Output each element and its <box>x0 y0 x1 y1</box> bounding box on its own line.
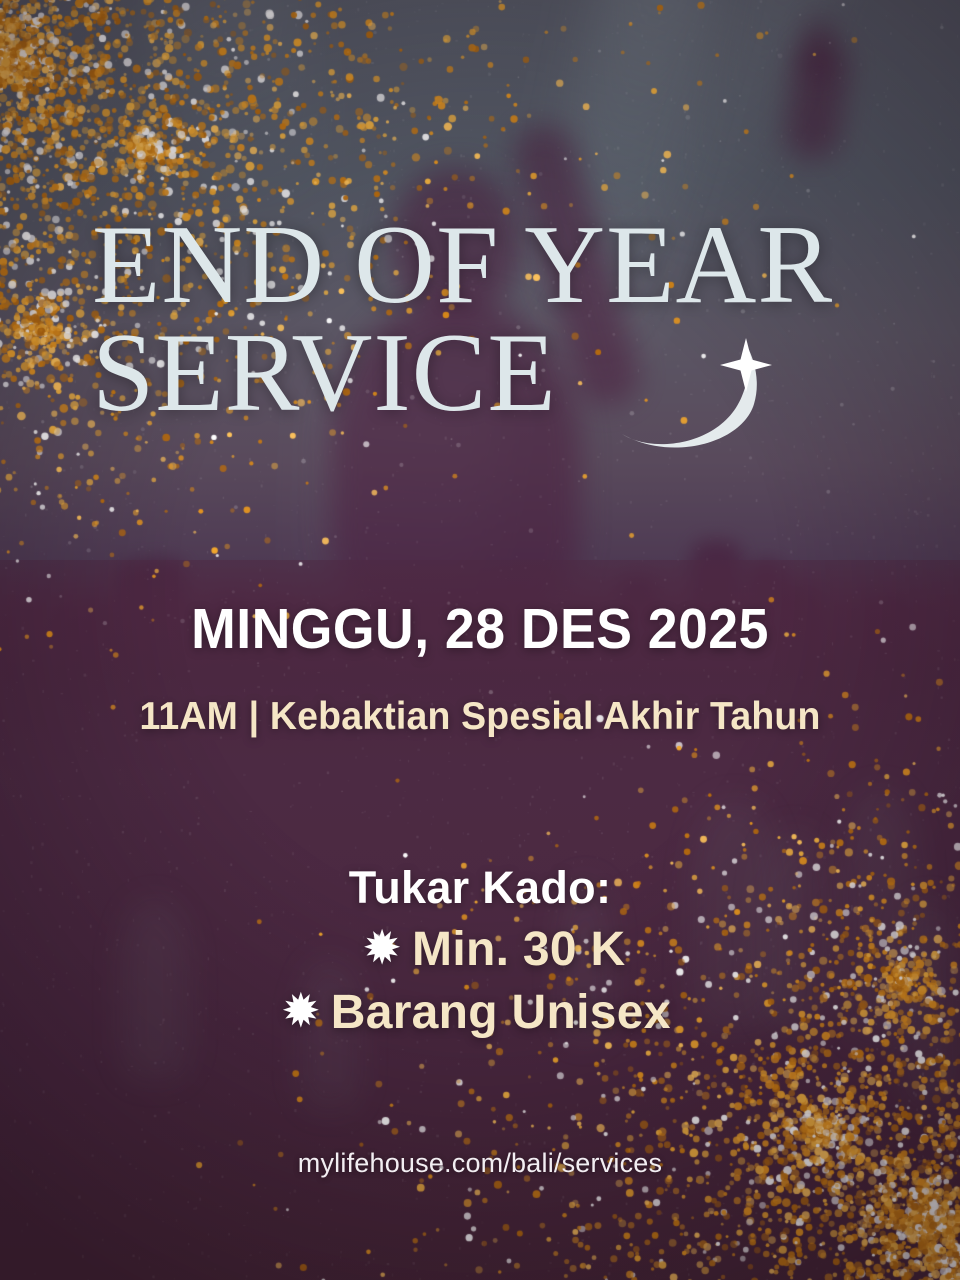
poster-content: END OF YEAR SERVICE MINGGU, 28 DES 2025 … <box>0 0 960 1280</box>
gift-requirement-label: Min. 30 K <box>412 923 625 976</box>
gift-requirement-label: Barang Unisex <box>331 986 671 1039</box>
poster-canvas: END OF YEAR SERVICE MINGGU, 28 DES 2025 … <box>0 0 960 1280</box>
headline-line-1: END OF YEAR <box>92 203 833 327</box>
event-date: MINGGU, 28 DES 2025 <box>29 596 931 662</box>
starburst-icon: ✹ <box>283 986 319 1035</box>
gift-exchange-title: Tukar Kado: <box>0 862 960 914</box>
gift-requirement-item: ✹Min. 30 K <box>0 922 960 977</box>
gift-exchange-block: Tukar Kado: ✹Min. 30 K ✹Barang Unisex <box>0 862 960 1040</box>
starburst-icon: ✹ <box>365 923 401 972</box>
event-time-description: 11AM | Kebaktian Spesial Akhir Tahun <box>19 695 941 739</box>
crescent-moon-icon <box>604 334 774 454</box>
website-url: mylifehouse.com/bali/services <box>0 1148 960 1179</box>
sparkle-star-icon <box>720 338 772 392</box>
gift-requirement-item: ✹Barang Unisex <box>0 985 960 1040</box>
